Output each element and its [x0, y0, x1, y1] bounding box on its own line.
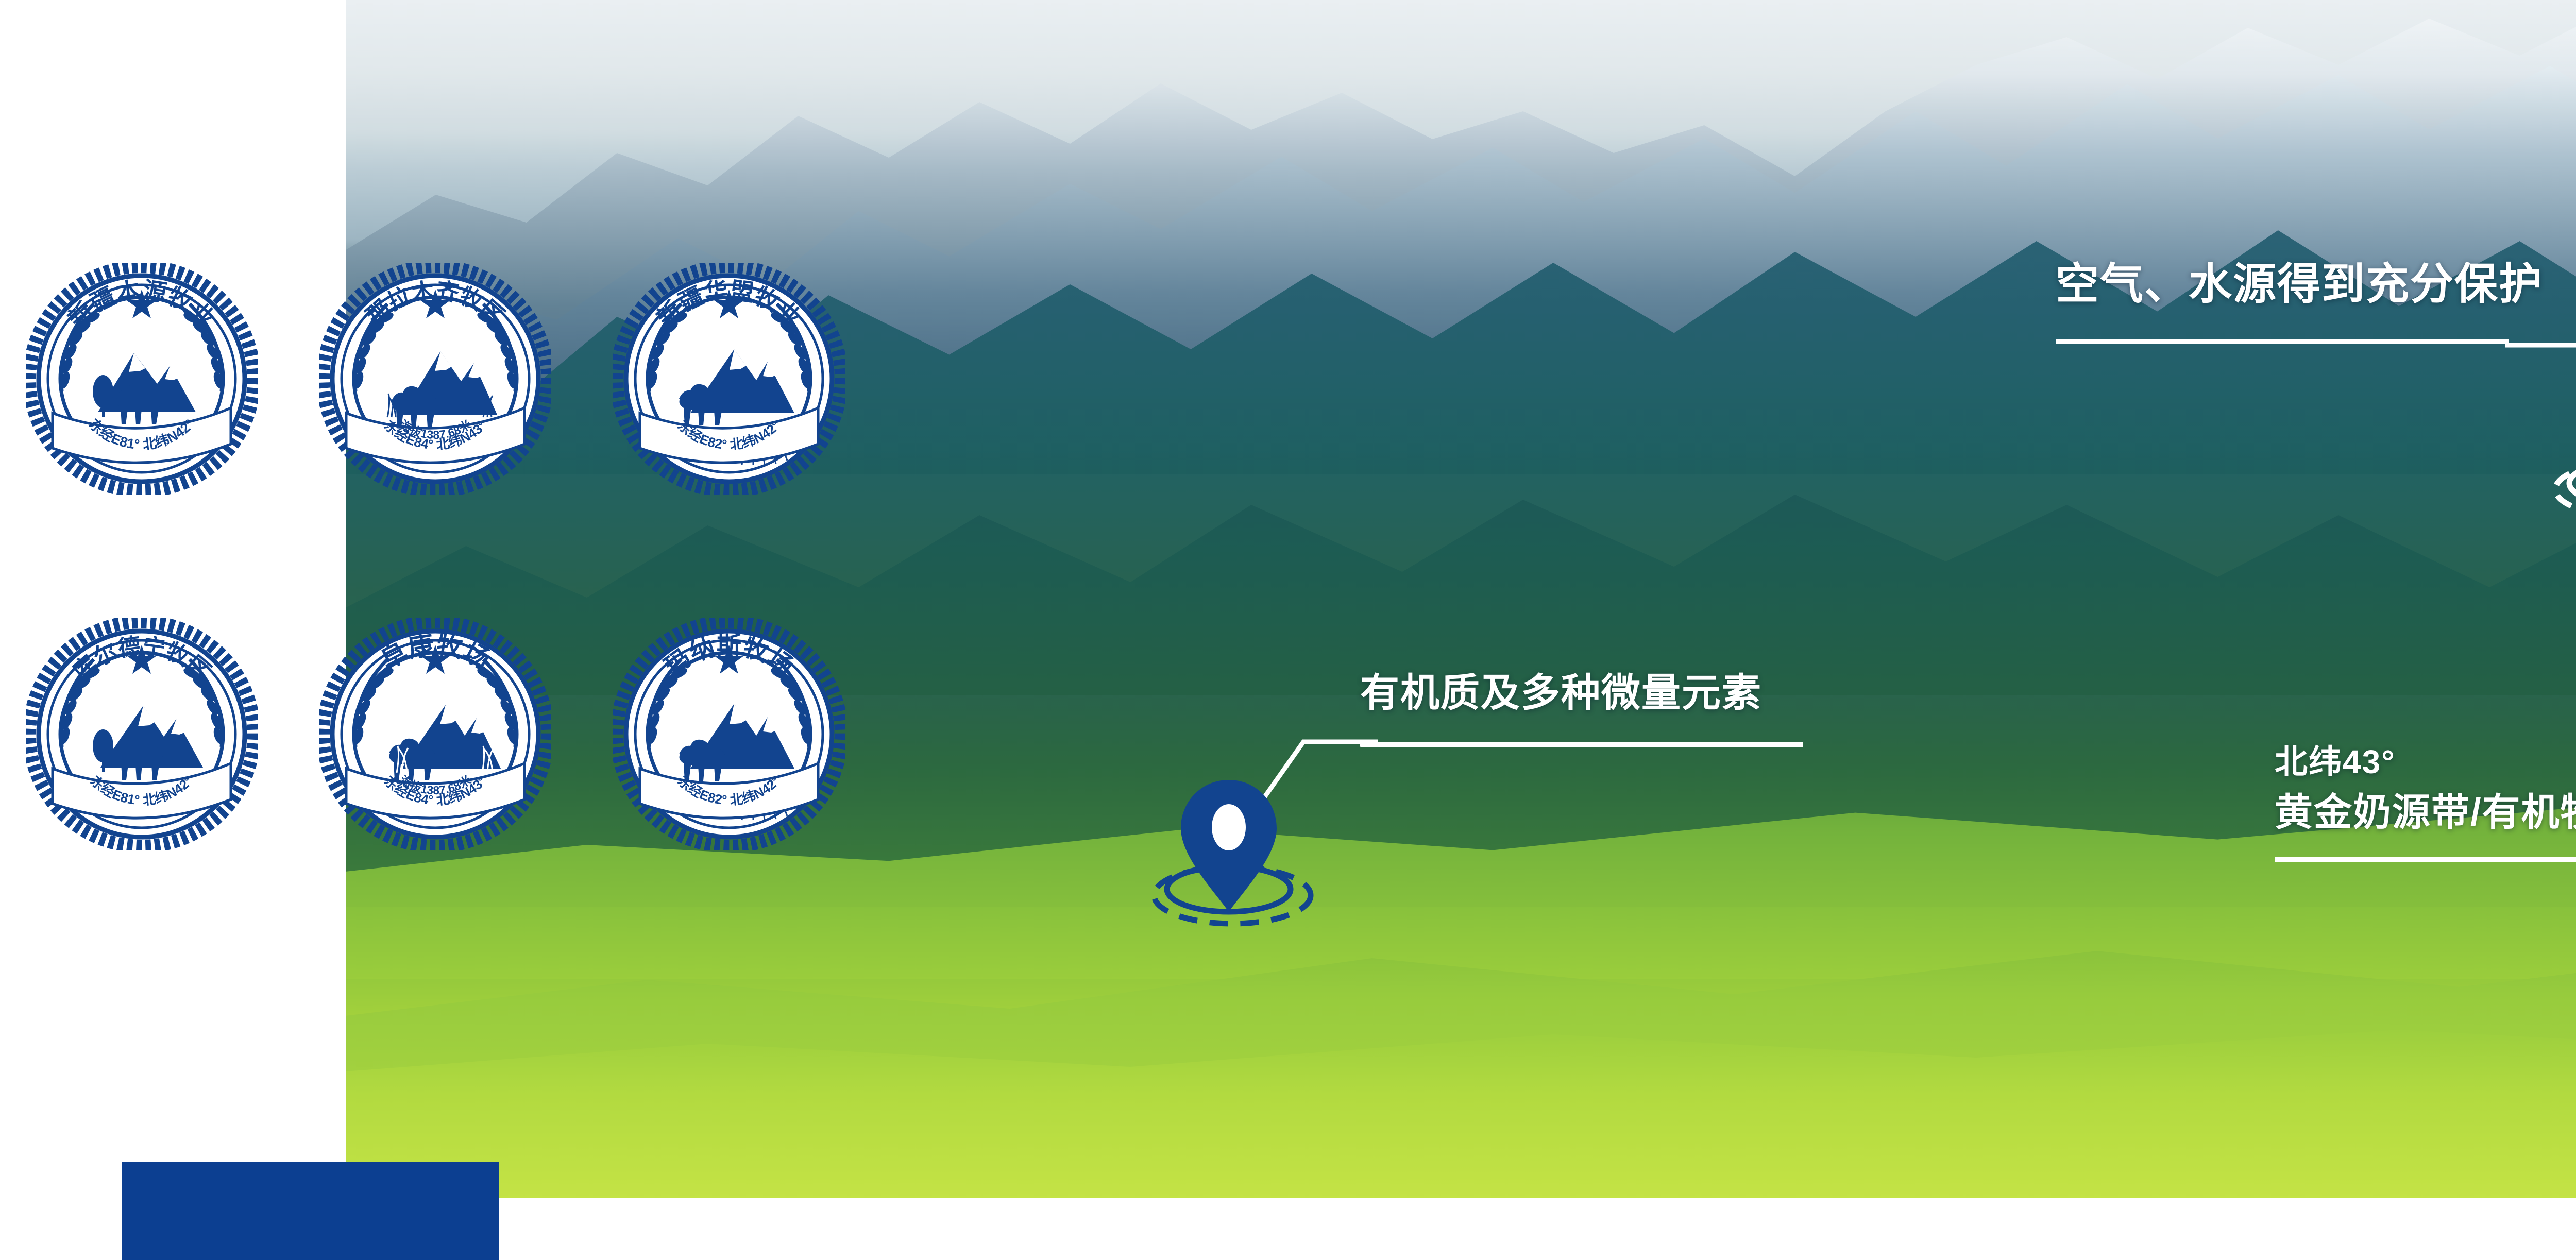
callout-organic-matter-rule — [1360, 742, 1803, 747]
badge-manasi[interactable]: 玛纳斯牧场 东经E82° 北纬N42° — [613, 618, 845, 850]
callout-air-water[interactable]: 空气、水源得到充分保护 — [2056, 258, 2576, 344]
map-pin-air-water[interactable] — [2519, 361, 2576, 536]
badge-xinjiang-huameng[interactable]: 新疆华盟牧业 东经E82° 北纬N42° — [613, 263, 845, 495]
callout-air-water-rule — [2056, 339, 2509, 344]
badge-xinjiang-benyuan[interactable]: 新疆本源牧业 东经E81° 北纬N42° — [26, 263, 258, 495]
poster-root: 新疆本源牧业 东经E81° 北纬N42° — [0, 0, 2576, 1260]
badge-fukang[interactable]: 阜康牧场 东经E84° 北纬N43° 海拔1387.68米 — [319, 618, 551, 850]
callout-golden-belt-rule — [2275, 857, 2576, 862]
callout-golden-belt-line2: 黄金奶源带/有机牧场 — [2275, 789, 2576, 836]
callout-golden-belt-line1: 北纬43° — [2275, 742, 2576, 782]
bottom-blue-block — [122, 1162, 499, 1260]
location-pin-icon — [1181, 780, 1277, 912]
callout-golden-belt[interactable]: 北纬43° 黄金奶源带/有机牧场 — [2275, 742, 2576, 862]
badge-kuerdening[interactable]: 库尔德宁牧区 东经E81° 北纬N42° — [26, 618, 258, 850]
pin-orbit-dashed-ring — [2555, 462, 2576, 516]
badge-nalamuqi[interactable]: 那拉木齐牧区 东经E84° 北纬N43° 海拔1387.68米 — [319, 263, 551, 495]
callout-air-water-line1: 空气、水源得到充分保护 — [2056, 258, 2576, 310]
map-pin-organic-matter[interactable] — [1123, 757, 1350, 938]
callout-organic-matter-line1: 有机质及多种微量元素 — [1360, 670, 1927, 718]
farm-badge-group: 新疆本源牧业 东经E81° 北纬N42° — [0, 0, 1072, 907]
callout-organic-matter[interactable]: 有机质及多种微量元素 — [1360, 670, 1927, 747]
